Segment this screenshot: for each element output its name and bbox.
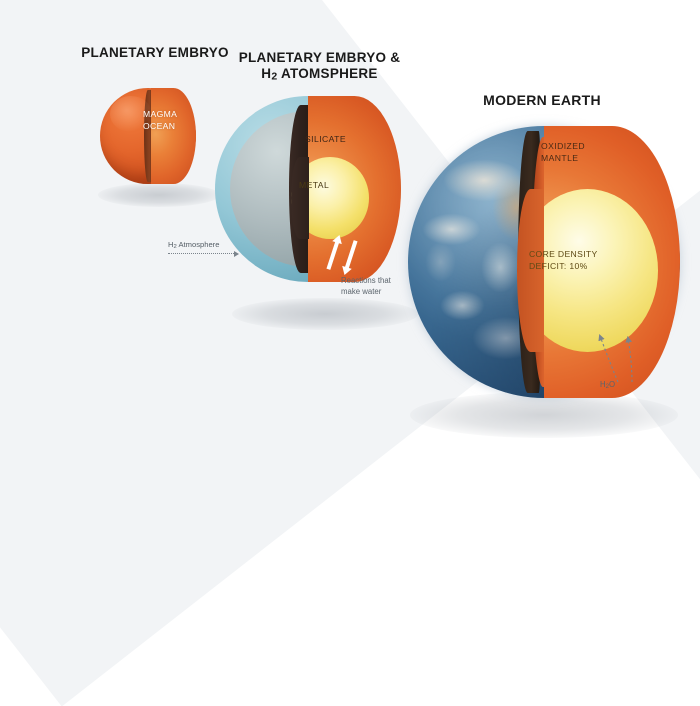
label-magma-ocean-line1: MAGMA [143, 108, 177, 120]
label-oxidized-mantle-line2: MANTLE [541, 152, 585, 164]
annotation-h2-atmosphere: H2 Atmosphere [168, 240, 234, 255]
label-oxidized-mantle: OXIDIZED MANTLE [541, 140, 585, 165]
reactions-line2: make water [341, 286, 391, 297]
annotation-h2-atmosphere-text: H2 Atmosphere [168, 240, 234, 250]
title-planetary-embryo-h2: PLANETARY EMBRYO & H2 ATOMSPHERE [222, 50, 417, 84]
sphere-shadow-embryo-h2 [232, 298, 418, 330]
h2-metal-core-occlusion [291, 157, 309, 239]
label-core-density-line2: DEFICIT: 10% [529, 260, 598, 272]
title-planetary-embryo: PLANETARY EMBRYO [66, 45, 244, 61]
label-oxidized-mantle-line1: OXIDIZED [541, 140, 585, 152]
title-modern-earth: MODERN EARTH [432, 92, 652, 109]
embryo-magma-ocean-face [151, 88, 196, 184]
label-core-density-line1: CORE DENSITY [529, 248, 598, 260]
title-line-2-pre: H [261, 66, 271, 81]
sphere-planetary-embryo [100, 88, 196, 184]
annotation-h2o: H2O [600, 380, 615, 390]
diagram-canvas: PLANETARY EMBRYO PLANETARY EMBRYO & H2 A… [0, 0, 700, 472]
label-metal: METAL [299, 180, 329, 190]
annotation-reactions-make-water: Reactions that make water [341, 275, 391, 298]
h2o-post: O [609, 380, 615, 389]
sphere-shadow-earth [410, 392, 678, 438]
label-magma-ocean: MAGMA OCEAN [143, 108, 177, 132]
label-core-density-deficit: CORE DENSITY DEFICIT: 10% [529, 248, 598, 273]
title-line-1: PLANETARY EMBRYO & [239, 50, 401, 65]
h2-atm-post: Atmosphere [177, 240, 220, 249]
label-silicate: SILICATE [305, 134, 346, 144]
reactions-line1: Reactions that [341, 275, 391, 286]
label-magma-ocean-line2: OCEAN [143, 120, 177, 132]
title-line-2-post: ATOMSPHERE [277, 66, 377, 81]
sphere-shadow-embryo [98, 183, 220, 207]
h2-atmosphere-dotted-arrow-icon [168, 253, 234, 255]
